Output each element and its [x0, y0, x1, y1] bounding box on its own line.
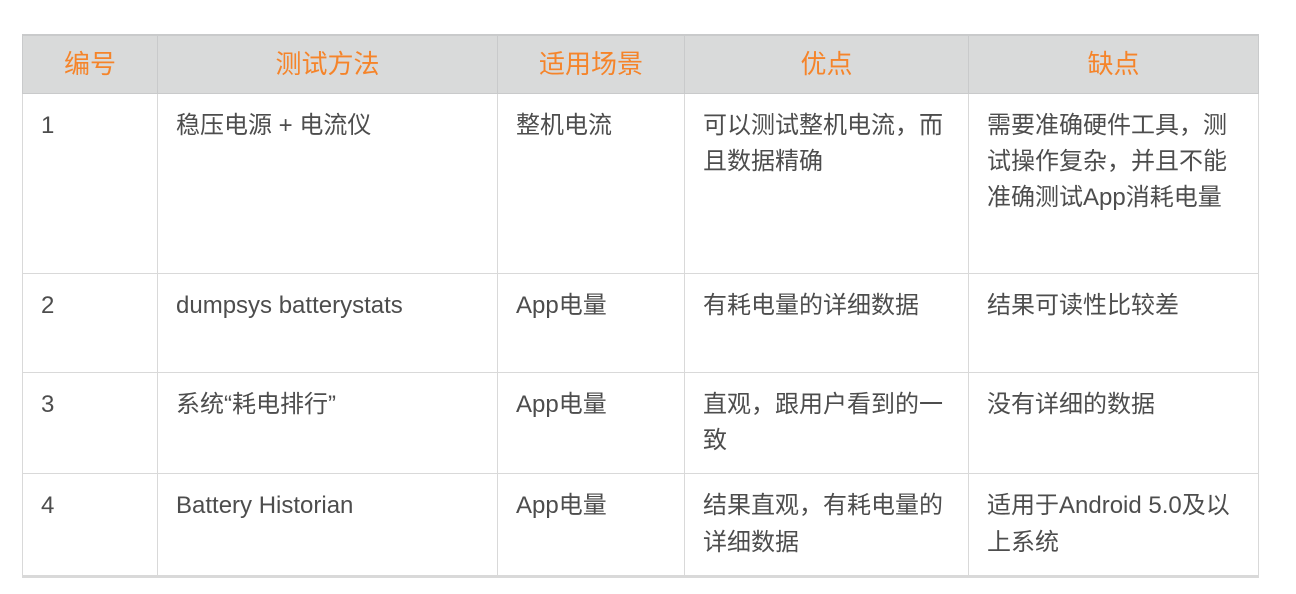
cell-num: 2 — [23, 273, 158, 372]
cell-scene: App电量 — [498, 474, 685, 577]
column-header-cons: 缺点 — [969, 35, 1259, 93]
table-row: 4 Battery Historian App电量 结果直观，有耗电量的详细数据… — [23, 474, 1259, 577]
table-row: 1 稳压电源 + 电流仪 整机电流 可以测试整机电流，而且数据精确 需要准确硬件… — [23, 93, 1259, 273]
cell-num: 4 — [23, 474, 158, 577]
cell-pros: 有耗电量的详细数据 — [685, 273, 969, 372]
cell-scene: 整机电流 — [498, 93, 685, 273]
cell-method: 稳压电源 + 电流仪 — [158, 93, 498, 273]
cell-cons: 需要准确硬件工具，测试操作复杂，并且不能准确测试App消耗电量 — [969, 93, 1259, 273]
cell-scene: App电量 — [498, 372, 685, 474]
battery-test-method-comparison-table: 编号 测试方法 适用场景 优点 缺点 1 稳压电源 + 电流仪 整机电流 可以测… — [22, 34, 1259, 578]
column-header-pros: 优点 — [685, 35, 969, 93]
cell-cons: 适用于Android 5.0及以上系统 — [969, 474, 1259, 577]
page-container: 编号 测试方法 适用场景 优点 缺点 1 稳压电源 + 电流仪 整机电流 可以测… — [0, 0, 1296, 594]
column-header-num: 编号 — [23, 35, 158, 93]
cell-method: Battery Historian — [158, 474, 498, 577]
cell-cons: 没有详细的数据 — [969, 372, 1259, 474]
table-row: 3 系统“耗电排行” App电量 直观，跟用户看到的一致 没有详细的数据 — [23, 372, 1259, 474]
cell-cons: 结果可读性比较差 — [969, 273, 1259, 372]
column-header-method: 测试方法 — [158, 35, 498, 93]
cell-pros: 结果直观，有耗电量的详细数据 — [685, 474, 969, 577]
cell-method: dumpsys batterystats — [158, 273, 498, 372]
cell-num: 3 — [23, 372, 158, 474]
cell-pros: 可以测试整机电流，而且数据精确 — [685, 93, 969, 273]
table-row: 2 dumpsys batterystats App电量 有耗电量的详细数据 结… — [23, 273, 1259, 372]
table-body: 1 稳压电源 + 电流仪 整机电流 可以测试整机电流，而且数据精确 需要准确硬件… — [23, 93, 1259, 577]
table-header-row: 编号 测试方法 适用场景 优点 缺点 — [23, 35, 1259, 93]
column-header-scene: 适用场景 — [498, 35, 685, 93]
cell-method: 系统“耗电排行” — [158, 372, 498, 474]
table-header: 编号 测试方法 适用场景 优点 缺点 — [23, 35, 1259, 93]
cell-num: 1 — [23, 93, 158, 273]
cell-scene: App电量 — [498, 273, 685, 372]
cell-pros: 直观，跟用户看到的一致 — [685, 372, 969, 474]
